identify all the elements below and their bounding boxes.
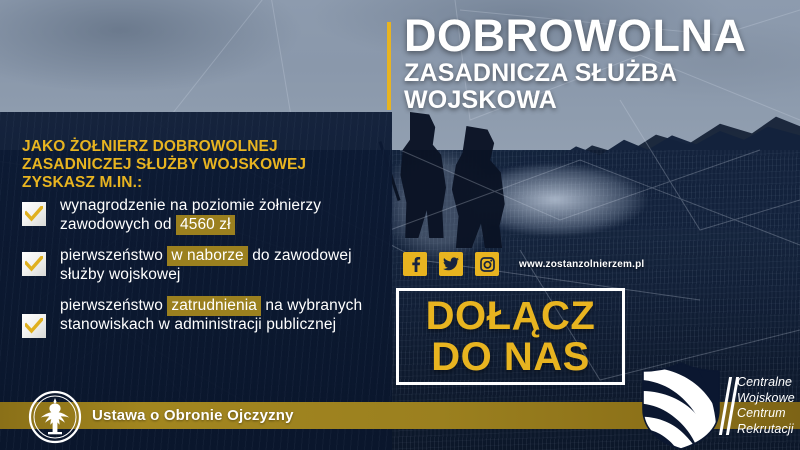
title-line-3: WOJSKOWA	[404, 87, 794, 114]
cwcr-shield-logo	[640, 362, 722, 450]
facebook-icon[interactable]	[403, 252, 427, 276]
law-label: Ustawa o Obronie Ojczyzny	[92, 404, 294, 428]
benefit-highlight: w naborze	[167, 246, 247, 266]
benefit-text: pierwszeństwo zatrudnienia na wybranych …	[60, 296, 384, 334]
title-line-1: DOBROWOLNA	[404, 12, 794, 60]
cta-line-2: DO NAS	[431, 337, 590, 378]
cwcr-logo-text: Centralne Wojskowe Centrum Rekrutacji	[737, 375, 795, 437]
twitter-icon[interactable]	[439, 252, 463, 276]
social-links-row: www.zostanzolnierzem.pl	[403, 252, 644, 276]
benefit-text-pre: pierwszeństwo	[60, 247, 167, 264]
benefits-list: wynagrodzenie na poziomie żołnierzy zawo…	[22, 196, 384, 350]
benefit-highlight: zatrudnienia	[167, 296, 261, 316]
cwcr-line-4: Rekrutacji	[737, 422, 795, 438]
lead-heading-line-3: ZYSKASZ M.IN.:	[22, 174, 382, 192]
join-us-cta[interactable]: DOŁĄCZ DO NAS	[396, 288, 625, 385]
title-accent-bar	[387, 22, 391, 110]
title-line-2: ZASADNICZA SŁUŻBA	[404, 60, 794, 87]
benefit-item: pierwszeństwo w naborze do zawodowej słu…	[22, 246, 384, 284]
lead-heading-line-2: ZASADNICZEJ SŁUŻBY WOJSKOWEJ	[22, 156, 382, 174]
benefit-item: pierwszeństwo zatrudnienia na wybranych …	[22, 296, 384, 338]
logo-divider-bars	[724, 377, 728, 435]
cwcr-line-1: Centralne	[737, 375, 795, 391]
benefit-item: wynagrodzenie na poziomie żołnierzy zawo…	[22, 196, 384, 234]
benefit-highlight: 4560 zł	[176, 215, 235, 235]
lead-heading-line-1: JAKO ŻOŁNIERZ DOBROWOLNEJ	[22, 138, 382, 156]
cwcr-line-2: Wojskowe	[737, 391, 795, 407]
recruitment-poster: DOBROWOLNA ZASADNICZA SŁUŻBA WOJSKOWA JA…	[0, 0, 800, 450]
cta-line-1: DOŁĄCZ	[426, 296, 596, 337]
lead-heading: JAKO ŻOŁNIERZ DOBROWOLNEJ ZASADNICZEJ SŁ…	[22, 138, 382, 192]
benefit-text-pre: pierwszeństwo	[60, 297, 167, 314]
benefit-text: wynagrodzenie na poziomie żołnierzy zawo…	[60, 196, 384, 234]
checkmark-icon	[22, 252, 46, 276]
checkmark-icon	[22, 202, 46, 226]
polish-army-eagle-emblem	[27, 389, 83, 445]
website-url[interactable]: www.zostanzolnierzem.pl	[519, 259, 644, 270]
poster-title: DOBROWOLNA ZASADNICZA SŁUŻBA WOJSKOWA	[404, 12, 794, 114]
benefit-text: pierwszeństwo w naborze do zawodowej słu…	[60, 246, 384, 284]
cwcr-logo: Centralne Wojskowe Centrum Rekrutacji	[640, 362, 800, 450]
cwcr-line-3: Centrum	[737, 406, 795, 422]
checkmark-icon	[22, 314, 46, 338]
instagram-icon[interactable]	[475, 252, 499, 276]
